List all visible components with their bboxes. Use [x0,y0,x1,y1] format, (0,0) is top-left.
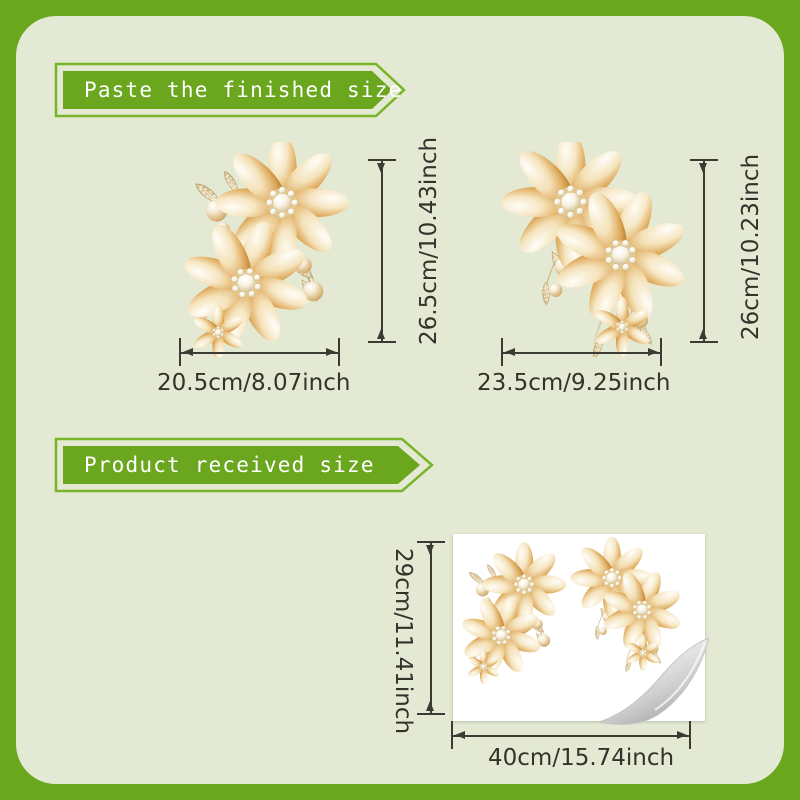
sheet-height-tick-top [417,541,445,543]
right-width-tick-left [501,338,503,366]
left-width-tick-left [179,338,181,366]
sheet-width-label: 40cm/15.74inch [488,745,674,771]
left-width-dimension-line [180,352,339,354]
sheet-width-arrow-right [677,731,687,739]
sheet-height-tick-bottom [417,713,445,715]
left-height-tick-top [368,159,396,161]
left-height-tick-bottom [368,341,396,343]
flower-arrangement-left [160,142,370,357]
left-width-tick-right [338,338,340,366]
right-height-tick-top [690,159,718,161]
flower-arrangement-right [486,142,691,357]
sheet-width-tick-left [451,721,453,749]
left-height-arrow-top [377,163,385,173]
banner-received-label: Product received size [84,437,375,493]
left-width-label: 20.5cm/8.07inch [157,370,350,396]
sheet-height-label: 29cm/11.41inch [390,548,416,734]
left-width-arrow-right [326,348,336,356]
page-frame: Paste the finished size 26.5cm/10.43inch… [0,0,800,800]
sheet-height-dimension-line [430,542,432,714]
right-width-dimension-line [502,352,661,354]
right-height-tick-bottom [690,341,718,343]
right-width-label: 23.5cm/9.25inch [477,370,670,396]
left-height-arrow-bottom [377,329,385,339]
right-height-label: 26cm/10.23inch [738,154,764,340]
right-width-arrow-left [505,348,515,356]
sheet-width-dimension-line [452,735,690,737]
right-height-dimension-line [703,160,705,342]
sheet-width-arrow-left [455,731,465,739]
banner-paste-label: Paste the finished size [84,62,402,118]
banner-product-received-size: Product received size [54,437,434,493]
right-height-arrow-top [699,163,707,173]
right-width-arrow-right [648,348,658,356]
sheet-height-arrow-top [426,545,434,555]
sheet-curled-corner-icon [593,634,709,726]
left-width-arrow-left [183,348,193,356]
left-height-label: 26.5cm/10.43inch [416,137,442,345]
right-height-arrow-bottom [699,329,707,339]
left-height-dimension-line [381,160,383,342]
right-width-tick-right [660,338,662,366]
product-sheet [453,534,705,721]
sheet-height-arrow-bottom [426,701,434,711]
sheet-width-tick-right [689,721,691,749]
banner-paste-finished-size: Paste the finished size [54,62,406,118]
